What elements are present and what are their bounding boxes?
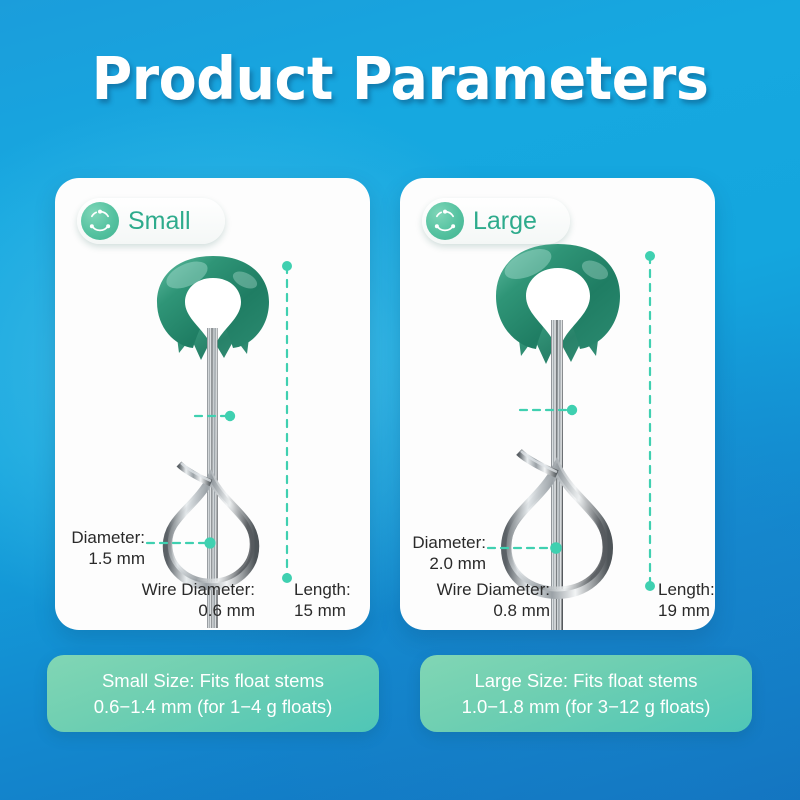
annotation-label: Wire Diameter: <box>390 580 550 601</box>
annotation-diameter-large: Diameter: 2.0 mm <box>378 533 486 574</box>
annotation-wire-diameter-small: Wire Diameter: 0.6 mm <box>65 580 255 621</box>
banner-line-1: Large Size: Fits float stems <box>474 668 697 693</box>
infographic-page: Product Parameters Small <box>0 0 800 800</box>
annotation-value: 1.5 mm <box>45 549 145 570</box>
size-badge-large: Large <box>422 198 570 244</box>
rotation-ring-icon <box>81 202 119 240</box>
product-card-small: Small <box>55 178 370 630</box>
annotation-value: 19 mm <box>658 601 715 622</box>
annotation-wire-diameter-large: Wire Diameter: 0.8 mm <box>390 580 550 621</box>
size-badge-small: Small <box>77 198 225 244</box>
size-badge-label-large: Large <box>473 207 537 236</box>
size-banner-large: Large Size: Fits float stems 1.0−1.8 mm … <box>420 655 752 732</box>
size-banner-small: Small Size: Fits float stems 0.6−1.4 mm … <box>47 655 379 732</box>
annotation-label: Wire Diameter: <box>65 580 255 601</box>
annotation-length-large: Length: 19 mm <box>658 580 715 621</box>
rotation-ring-icon <box>426 202 464 240</box>
annotation-value: 15 mm <box>294 601 351 622</box>
annotation-value: 0.8 mm <box>390 601 550 622</box>
annotation-value: 0.6 mm <box>65 601 255 622</box>
annotation-label: Length: <box>294 580 351 601</box>
annotation-label: Diameter: <box>378 533 486 554</box>
banner-line-2: 0.6−1.4 mm (for 1−4 g floats) <box>94 694 333 719</box>
annotation-diameter-small: Diameter: 1.5 mm <box>45 528 145 569</box>
annotation-value: 2.0 mm <box>378 554 486 575</box>
annotation-length-small: Length: 15 mm <box>294 580 351 621</box>
banner-line-1: Small Size: Fits float stems <box>102 668 324 693</box>
annotation-label: Diameter: <box>45 528 145 549</box>
size-badge-label-small: Small <box>128 207 191 236</box>
product-card-large: Large <box>400 178 715 630</box>
annotation-label: Length: <box>658 580 715 601</box>
page-title: Product Parameters <box>24 44 776 113</box>
banner-line-2: 1.0−1.8 mm (for 3−12 g floats) <box>462 694 711 719</box>
